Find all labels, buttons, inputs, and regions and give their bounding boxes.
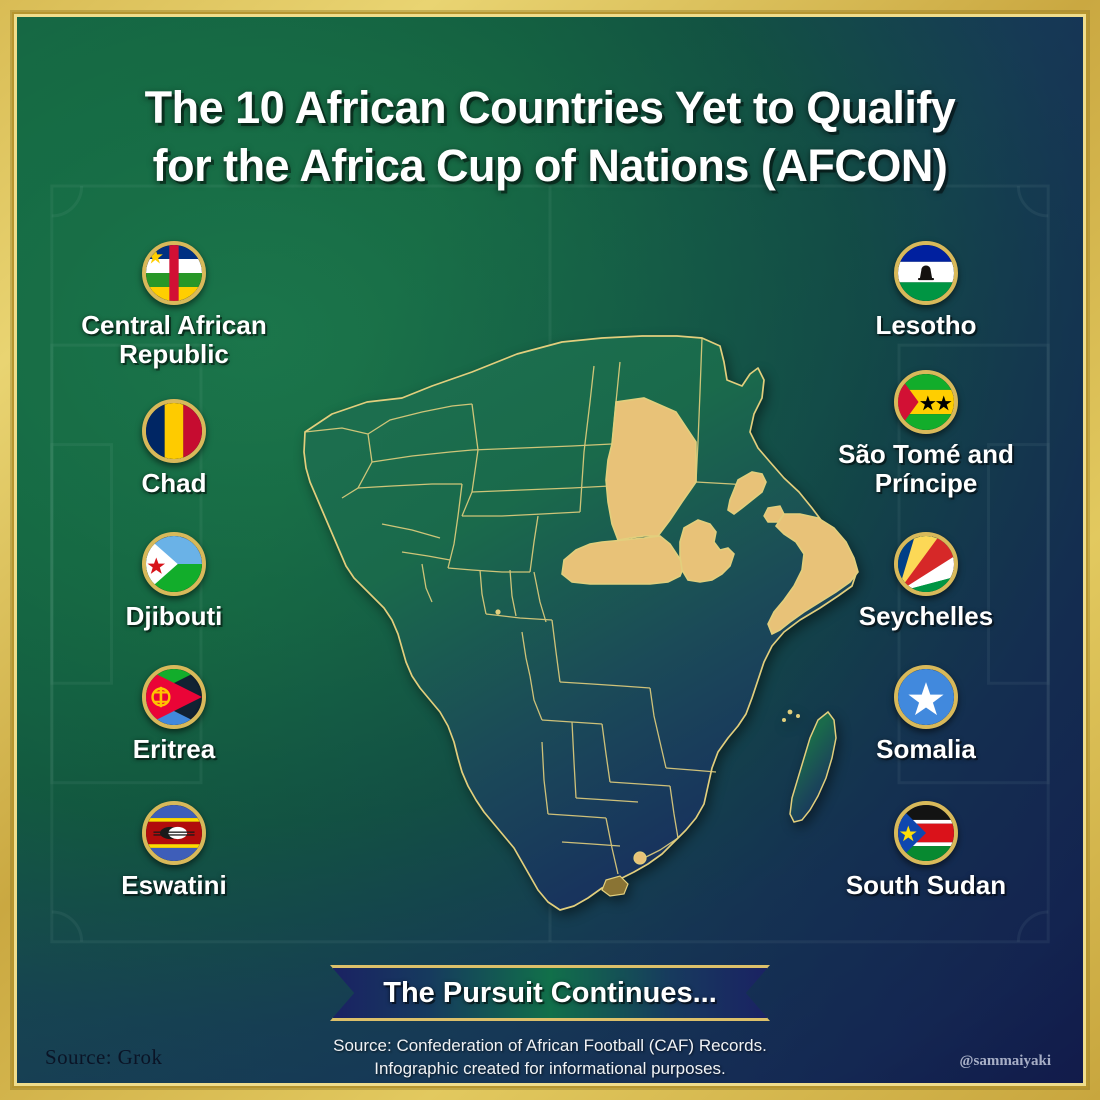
source-line-2: Infographic created for informational pu…: [17, 1058, 1083, 1081]
country-item-sao-tome-and-principe[interactable]: São Tomé and Príncipe: [791, 370, 1061, 498]
page-title: The 10 African Countries Yet to Qualify …: [17, 79, 1083, 194]
seychelles-flag-icon: [894, 532, 958, 596]
left-country-column: Central African Republic Chad: [39, 241, 309, 914]
country-item-chad[interactable]: Chad: [39, 399, 309, 498]
eswatini-flag-icon: [142, 801, 206, 865]
source-footer: Source: Confederation of African Footbal…: [17, 1035, 1083, 1081]
sao-tome-and-principe-flag-icon: [894, 370, 958, 434]
banner-label: The Pursuit Continues...: [383, 977, 717, 1010]
country-label: Djibouti: [39, 602, 309, 631]
title-line-1: The 10 African Countries Yet to Qualify: [57, 79, 1043, 137]
country-label: Eritrea: [39, 735, 309, 764]
country-label: Seychelles: [791, 602, 1061, 631]
right-country-column: Lesotho São Tomé and Príncipe: [791, 241, 1061, 914]
country-label: Eswatini: [39, 871, 309, 900]
watermark-source-grok: Source: Grok: [45, 1045, 162, 1070]
frame-inner: The 10 African Countries Yet to Qualify …: [14, 14, 1086, 1086]
title-line-2: for the Africa Cup of Nations (AFCON): [57, 137, 1043, 195]
country-label: Lesotho: [791, 311, 1061, 340]
chad-flag-icon: [142, 399, 206, 463]
country-item-eritrea[interactable]: Eritrea: [39, 665, 309, 764]
africa-map: [272, 302, 872, 952]
gold-frame: The 10 African Countries Yet to Qualify …: [0, 0, 1100, 1100]
banner-ribbon: The Pursuit Continues...: [330, 965, 770, 1021]
country-item-eswatini[interactable]: Eswatini: [39, 801, 309, 900]
south-sudan-flag-icon: [894, 801, 958, 865]
djibouti-flag-icon: [142, 532, 206, 596]
watermark-handle: @sammaiyaki: [960, 1053, 1051, 1070]
country-label: Somalia: [791, 735, 1061, 764]
source-line-1: Source: Confederation of African Footbal…: [17, 1035, 1083, 1058]
country-label: São Tomé and Príncipe: [791, 440, 1061, 498]
lesotho-flag-icon: [894, 241, 958, 305]
pursuit-banner: The Pursuit Continues...: [330, 965, 770, 1021]
country-label: Chad: [39, 469, 309, 498]
country-item-south-sudan[interactable]: South Sudan: [791, 801, 1061, 900]
country-item-seychelles[interactable]: Seychelles: [791, 532, 1061, 631]
country-label: South Sudan: [791, 871, 1061, 900]
somalia-flag-icon: [894, 665, 958, 729]
country-item-somalia[interactable]: Somalia: [791, 665, 1061, 764]
eritrea-flag-icon: [142, 665, 206, 729]
country-item-lesotho[interactable]: Lesotho: [791, 241, 1061, 340]
central-african-republic-flag-icon: [142, 241, 206, 305]
country-item-central-african-republic[interactable]: Central African Republic: [39, 241, 309, 369]
country-label: Central African Republic: [39, 311, 309, 369]
country-item-djibouti[interactable]: Djibouti: [39, 532, 309, 631]
